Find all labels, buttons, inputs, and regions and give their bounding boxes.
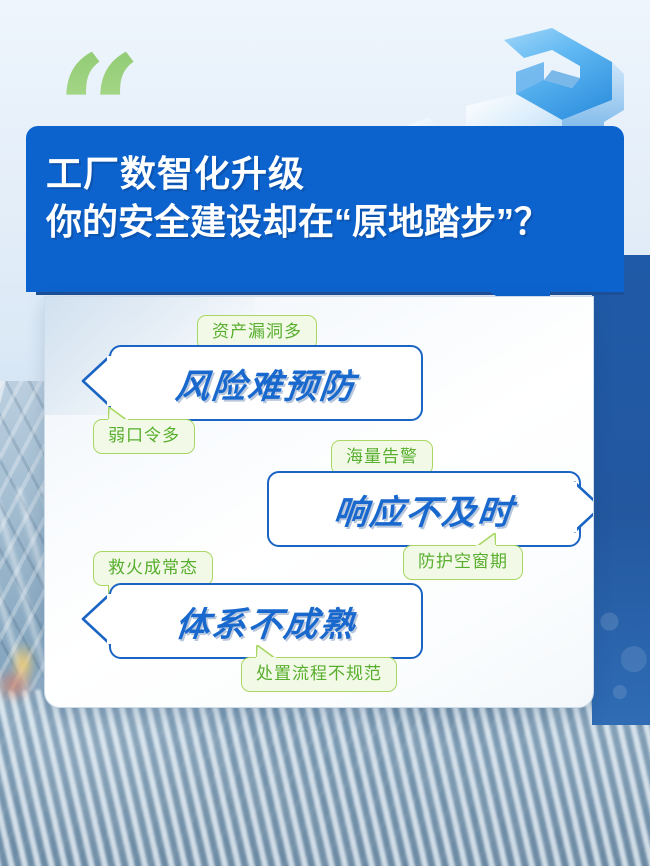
- content-card: 资产漏洞多 风险难预防 弱口令多 海量告警: [44, 296, 594, 708]
- bubble-chevron-left-icon-1: [81, 354, 111, 408]
- right-blue-panel: [592, 255, 650, 725]
- tag-beak-icon: [476, 533, 496, 547]
- issue-headline-bubble-1[interactable]: 风险难预防: [109, 345, 423, 421]
- issue-tag-3-2[interactable]: 处置流程不规范: [241, 657, 397, 692]
- issue-headline-1: 风险难预防: [173, 359, 358, 408]
- issue-tag-3-1-label: 救火成常态: [108, 558, 198, 577]
- issue-tag-2-2-label: 防护空窗期: [418, 552, 508, 571]
- issue-tag-2-2[interactable]: 防护空窗期: [403, 545, 523, 580]
- issue-tag-1-1-label: 资产漏洞多: [212, 322, 302, 341]
- tag-beak-icon: [108, 407, 128, 421]
- issue-headline-3: 体系不成熟: [173, 597, 358, 646]
- issue-tag-2-1[interactable]: 海量告警: [331, 440, 433, 475]
- bubble-chevron-right-icon-2: [573, 480, 594, 534]
- headline-text: 工厂数智化升级 你的安全建设却在“原地踏步”？: [46, 150, 646, 246]
- issue-headline-bubble-2[interactable]: 响应不及时: [267, 471, 581, 547]
- warm-light-highlight-secondary: [0, 667, 34, 703]
- issue-tag-1-2[interactable]: 弱口令多: [93, 419, 195, 454]
- bubble-chevron-left-icon-3: [81, 592, 111, 646]
- headline-line-2: 你的安全建设却在“原地踏步”？: [46, 198, 646, 246]
- issue-tag-3-2-label: 处置流程不规范: [256, 664, 382, 683]
- issue-headline-2: 响应不及时: [331, 485, 516, 534]
- poster-root: “: [0, 0, 650, 866]
- headline-line-1: 工厂数智化升级: [46, 150, 646, 198]
- tag-beak-icon: [256, 645, 276, 659]
- issue-tag-1-2-label: 弱口令多: [108, 426, 180, 445]
- issue-tag-3-1[interactable]: 救火成常态: [93, 551, 213, 586]
- issue-tag-2-1-label: 海量告警: [346, 447, 418, 466]
